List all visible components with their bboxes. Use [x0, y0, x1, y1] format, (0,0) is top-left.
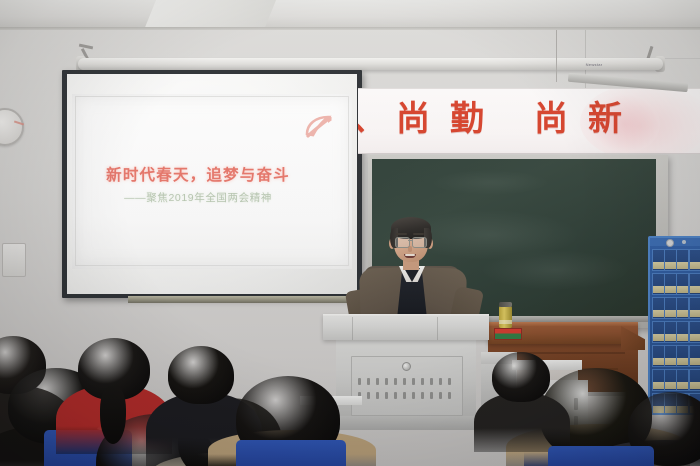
student-chair[interactable]	[548, 446, 654, 466]
student-head	[168, 346, 234, 404]
student-ponytail	[100, 386, 126, 444]
student-chair[interactable]	[236, 440, 346, 466]
student-head	[492, 352, 550, 402]
audience-foreground	[0, 0, 700, 466]
classroom-photo: Newstar 新时代春天，追梦与奋斗 ——聚焦2019年全国两会精神 、 尚 …	[0, 0, 700, 466]
